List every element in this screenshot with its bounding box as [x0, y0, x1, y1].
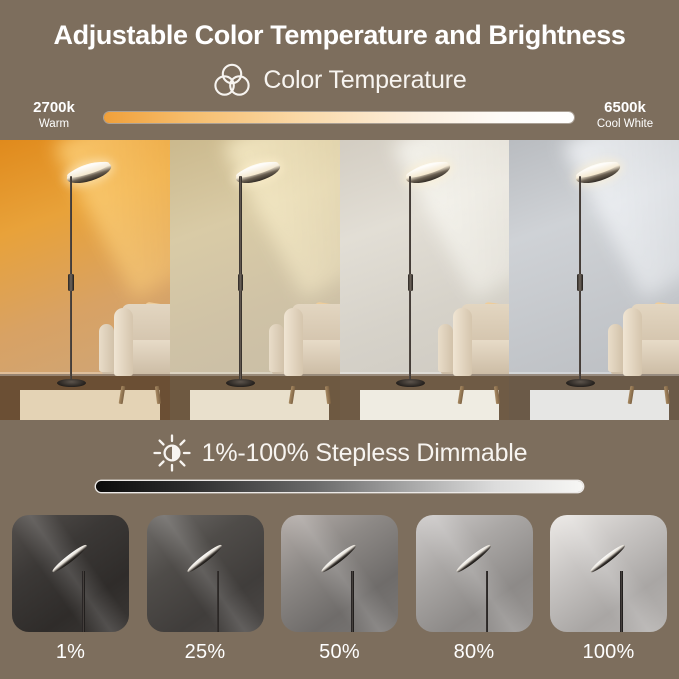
tile-sheen [281, 515, 398, 632]
sofa-arm-front [114, 308, 133, 376]
lamp-dimmer-switch[interactable] [577, 274, 583, 291]
sofa-arm-front [623, 308, 642, 376]
brightness-tile-label: 50% [319, 638, 360, 666]
floor-lamp [239, 176, 241, 382]
brightness-tile-label: 1% [56, 638, 85, 666]
room-panel-cool-white-6500k [509, 140, 679, 420]
sofa-arm-back [269, 324, 284, 372]
color-temperature-label: Color Temperature [263, 66, 466, 95]
brightness-tile-25pct[interactable]: 25% [147, 515, 264, 679]
sofa-arm-back [438, 324, 453, 372]
room-rug [20, 390, 159, 420]
sofa-arm-front [284, 308, 303, 376]
sofa [607, 290, 679, 390]
color-temperature-heading-row: Color Temperature [0, 60, 679, 100]
tile-lamp-pole [486, 571, 489, 632]
lamp-base [566, 379, 595, 387]
dimming-heading-row: 1%-100% Stepless Dimmable [0, 433, 679, 473]
brightness-tile-label: 25% [185, 638, 226, 666]
sofa-arm-front [453, 308, 472, 376]
brightness-level-tiles: 1%25%50%80%100% [0, 515, 679, 679]
brightness-tile-80pct[interactable]: 80% [416, 515, 533, 679]
dimming-label: 1%-100% Stepless Dimmable [202, 439, 528, 468]
sofa-arm-back [99, 324, 114, 372]
brightness-tile-label: 80% [454, 638, 495, 666]
room-comparison-strip [0, 140, 679, 420]
dimming-gradient-bar[interactable] [96, 481, 583, 492]
brightness-tile-1pct[interactable]: 1% [12, 515, 129, 679]
room-panel-neutral-white [340, 140, 510, 420]
color-temperature-gradient-bar[interactable] [104, 112, 574, 123]
tile-lamp-pole [351, 571, 354, 632]
floor-lamp [70, 176, 72, 382]
lamp-base [57, 379, 86, 387]
tile-lamp-pole [82, 571, 85, 632]
brightness-tile-label: 100% [583, 638, 635, 666]
tile-lamp-pole [217, 571, 220, 632]
sofa-arm-back [608, 324, 623, 372]
venn-circles-icon [212, 62, 252, 98]
room-rug [530, 390, 669, 420]
tile-sheen [12, 515, 129, 632]
warm-end-label: 2700k Warm [6, 98, 102, 131]
sofa [437, 290, 509, 390]
brightness-tile-image[interactable] [550, 515, 667, 632]
tile-sheen [147, 515, 264, 632]
tile-sheen [416, 515, 533, 632]
lamp-dimmer-switch[interactable] [238, 274, 244, 291]
lamp-base [396, 379, 425, 387]
tile-lamp-pole [620, 571, 623, 632]
cool-end-label: 6500k Cool White [577, 98, 673, 131]
color-temperature-scale: 2700k Warm 6500k Cool White [0, 98, 679, 140]
tile-sheen [550, 515, 667, 632]
warm-kelvin-value: 2700k [6, 98, 102, 117]
sofa [268, 290, 340, 390]
brightness-tile-image[interactable] [416, 515, 533, 632]
brightness-tile-image[interactable] [147, 515, 264, 632]
dimming-section: 1%-100% Stepless Dimmable 1%25%50%80%100… [0, 420, 679, 679]
brightness-tile-50pct[interactable]: 50% [281, 515, 398, 679]
brightness-tile-image[interactable] [281, 515, 398, 632]
color-temperature-section: Adjustable Color Temperature and Brightn… [0, 0, 679, 140]
cool-kelvin-value: 6500k [577, 98, 673, 117]
sun-brightness-icon [152, 433, 192, 473]
lamp-dimmer-switch[interactable] [68, 274, 74, 291]
brightness-tile-100pct[interactable]: 100% [550, 515, 667, 679]
cool-kelvin-sub: Cool White [577, 117, 673, 131]
brightness-tile-image[interactable] [12, 515, 129, 632]
floor-lamp [579, 176, 581, 382]
room-rug [190, 390, 329, 420]
warm-kelvin-sub: Warm [6, 117, 102, 131]
room-panel-warm-neutral [170, 140, 340, 420]
sofa [98, 290, 170, 390]
room-rug [360, 390, 499, 420]
room-panel-warm-2700k [0, 140, 170, 420]
lamp-dimmer-switch[interactable] [408, 274, 414, 291]
page-title: Adjustable Color Temperature and Brightn… [0, 20, 679, 51]
floor-lamp [409, 176, 411, 382]
